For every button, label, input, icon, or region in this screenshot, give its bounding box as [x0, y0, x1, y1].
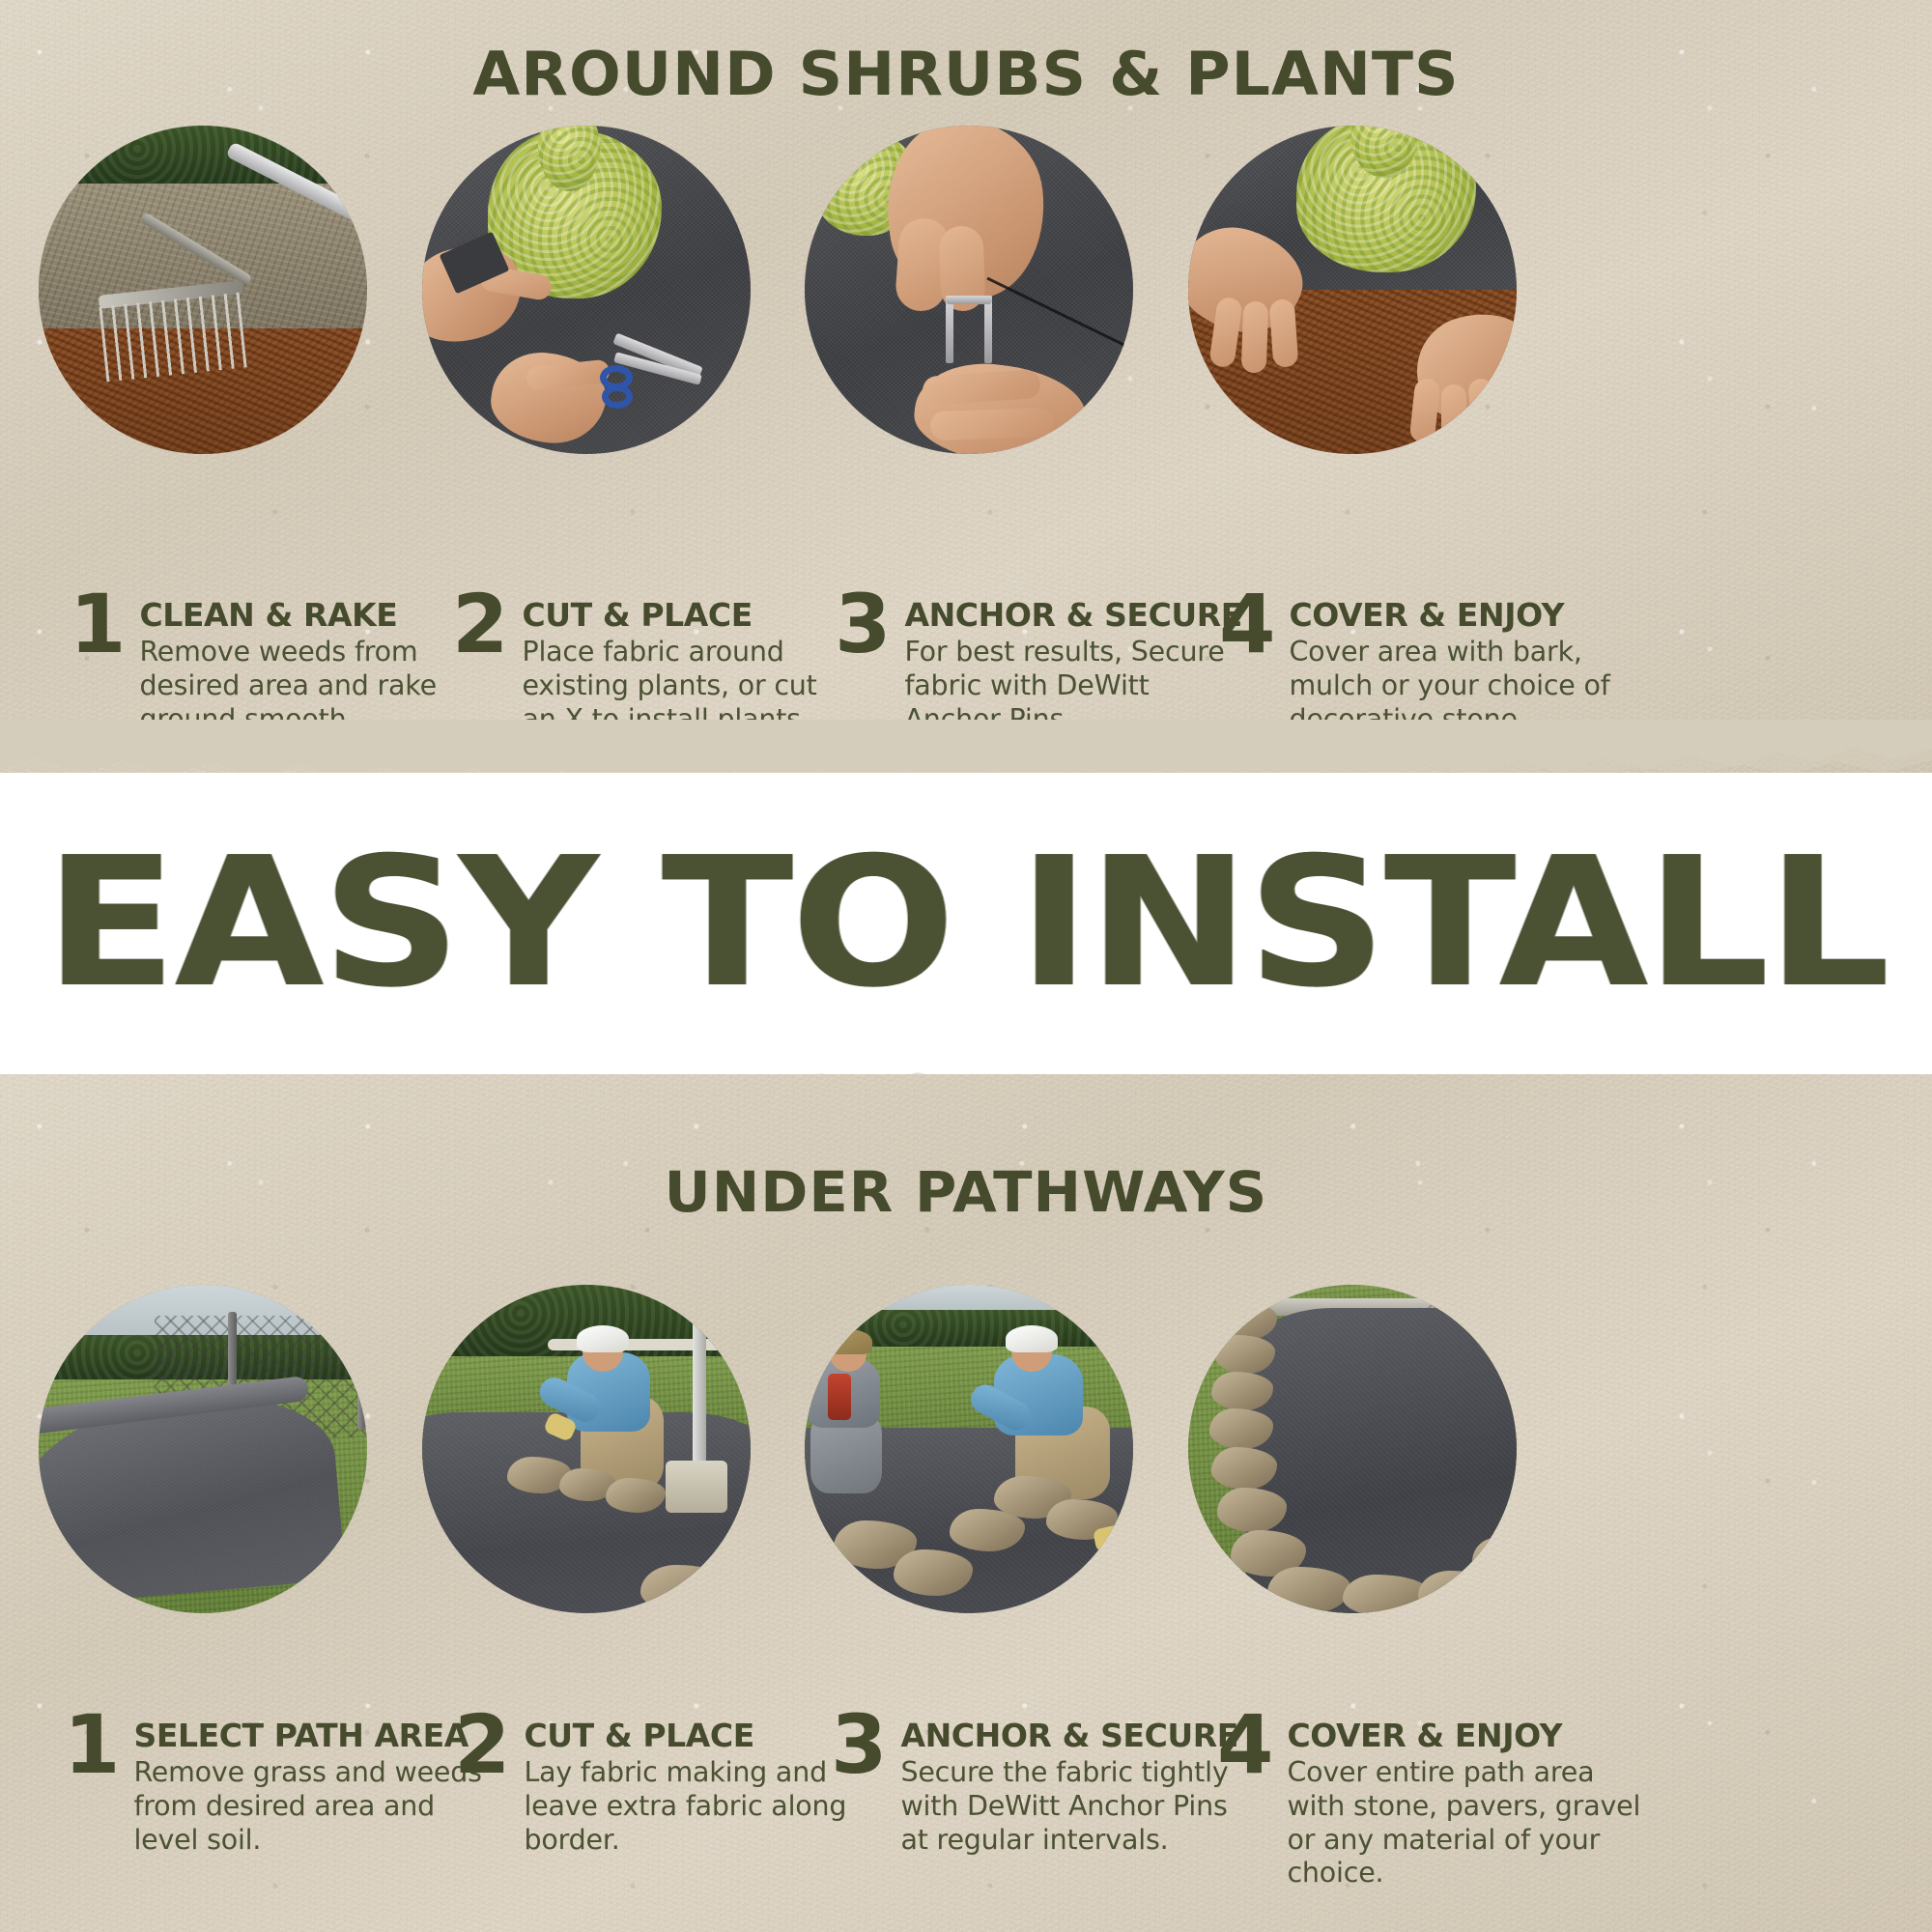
step-title: CUT & PLACE	[524, 1719, 860, 1751]
section-title-shrubs: AROUND SHRUBS & PLANTS	[0, 39, 1932, 109]
step-number: 2	[452, 593, 508, 657]
step-caption-pathways-2: 2 CUT & PLACE Lay fabric making and leav…	[454, 1719, 860, 1857]
step-number: 2	[454, 1714, 510, 1777]
photo-rake-mulch	[39, 126, 367, 454]
step-number: 1	[70, 593, 126, 657]
banner-title: EASY TO INSTALL	[44, 846, 1888, 1000]
photo-spreading-mulch	[1188, 126, 1517, 454]
step-text: For best results, Secure fabric with DeW…	[904, 636, 1240, 736]
step-title: COVER & ENJOY	[1289, 599, 1625, 631]
step-number: 4	[1217, 1714, 1273, 1777]
step-title: COVER & ENJOY	[1287, 1719, 1652, 1751]
photo-finished-stone-path	[1188, 1285, 1517, 1613]
section-title-pathways: UNDER PATHWAYS	[0, 1159, 1932, 1225]
step-caption-shrubs-2: 2 CUT & PLACE Place fabric around existi…	[452, 599, 858, 736]
photo-worker-laying-fabric	[422, 1285, 751, 1613]
step-caption-pathways-3: 3 ANCHOR & SECURE Secure the fabric tigh…	[831, 1719, 1256, 1857]
photo-hand-with-anchor-pin	[805, 126, 1133, 454]
step-title: ANCHOR & SECURE	[900, 1719, 1256, 1751]
step-text: Remove weeds from desired area and rake …	[139, 636, 475, 736]
step-number: 1	[64, 1714, 120, 1777]
photo-cut-fabric-around-shrub	[422, 126, 751, 454]
step-caption-pathways-1: 1 SELECT PATH AREA Remove grass and weed…	[64, 1719, 489, 1857]
step-title: ANCHOR & SECURE	[904, 599, 1240, 631]
step-number: 3	[831, 1714, 887, 1777]
photo-row-pathways	[0, 1285, 1932, 1613]
step-caption-shrubs-4: 4 COVER & ENJOY Cover area with bark, mu…	[1219, 599, 1625, 736]
step-text: Remove grass and weeds from desired area…	[133, 1756, 489, 1857]
step-text: Cover area with bark, mulch or your choi…	[1289, 636, 1625, 736]
photo-fabric-roll-on-lawn	[39, 1285, 367, 1613]
step-number: 3	[835, 593, 891, 657]
step-caption-shrubs-3: 3 ANCHOR & SECURE For best results, Secu…	[835, 599, 1240, 736]
step-title: CLEAN & RAKE	[139, 599, 475, 631]
step-text: Cover entire path area with stone, paver…	[1287, 1756, 1652, 1890]
photo-row-shrubs	[0, 126, 1932, 454]
step-caption-pathways-4: 4 COVER & ENJOY Cover entire path area w…	[1217, 1719, 1652, 1890]
banner-easy-to-install: EASY TO INSTALL	[0, 773, 1932, 1074]
photo-workers-placing-stones	[805, 1285, 1133, 1613]
step-text: Lay fabric making and leave extra fabric…	[524, 1756, 860, 1857]
step-title: SELECT PATH AREA	[133, 1719, 489, 1751]
step-text: Secure the fabric tightly with DeWitt An…	[900, 1756, 1256, 1857]
step-caption-shrubs-1: 1 CLEAN & RAKE Remove weeds from desired…	[70, 599, 475, 736]
step-text: Place fabric around existing plants, or …	[522, 636, 858, 736]
step-number: 4	[1219, 593, 1275, 657]
step-title: CUT & PLACE	[522, 599, 858, 631]
